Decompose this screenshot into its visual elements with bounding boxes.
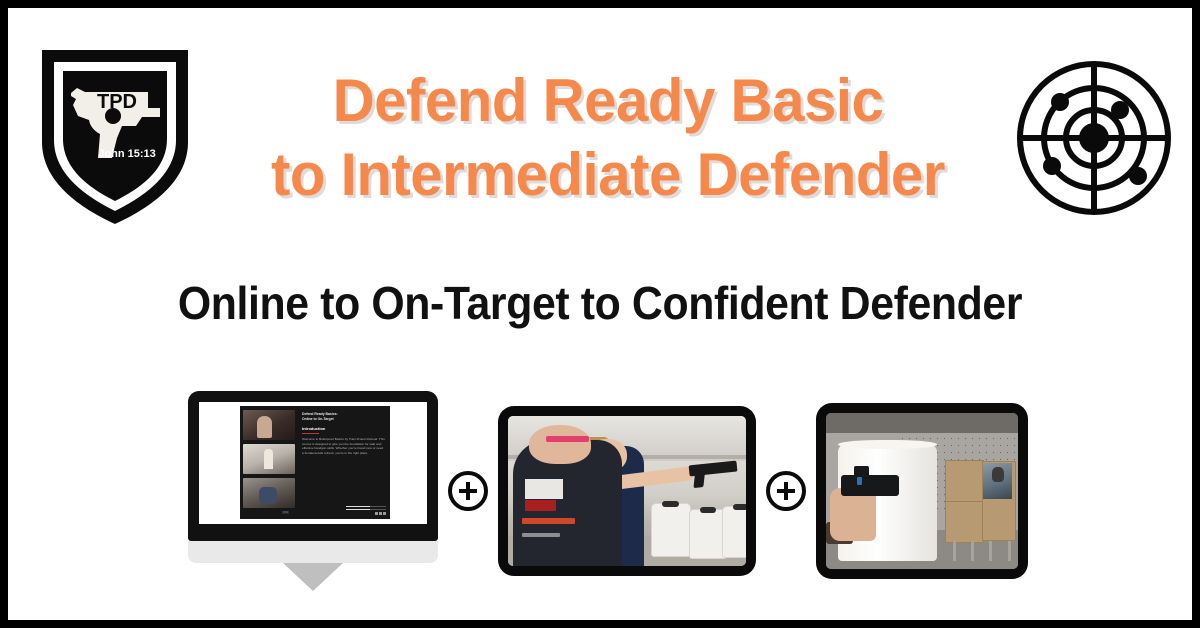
instructor-head (529, 425, 591, 464)
red-dot-optic (857, 477, 862, 485)
tpd-shield-logo: TPD John 15:13 (30, 30, 200, 230)
instructor-shirt-accent (525, 500, 556, 511)
instructor-shirt-logo (525, 479, 563, 499)
pistol-icon (688, 460, 736, 475)
instructor-talking-head-thumbnail[interactable] (243, 410, 295, 440)
video-volume-bar[interactable] (346, 509, 386, 510)
video-button-row[interactable] (346, 512, 386, 515)
instructor-shirt-text (522, 518, 574, 524)
barrel-1 (651, 503, 691, 557)
video-thumbnail-list (240, 406, 298, 519)
course-player: Defend Ready Basics: Online to On-Target… (240, 406, 390, 519)
fullscreen-icon[interactable] (383, 512, 386, 515)
monitor-stand (283, 563, 343, 591)
step-online-course: Defend Ready Basics: Online to On-Target… (188, 391, 438, 591)
barrel-2 (689, 509, 727, 559)
range-coaching-photo (508, 416, 746, 566)
classroom-whiteboard-thumbnail[interactable] (243, 444, 295, 474)
threat-photo-target (983, 463, 1012, 499)
monitor-screen: Defend Ready Basics: Online to On-Target… (199, 402, 427, 524)
monitor-chin (188, 541, 438, 563)
play-icon[interactable] (375, 512, 378, 515)
course-title-line-2: Online to On-Target (302, 417, 385, 422)
barrel-drill-photo (826, 413, 1018, 569)
page-title-line-2: to Intermediate Defender (220, 138, 996, 212)
course-content: Defend Ready Basics: Online to On-Target… (298, 406, 390, 519)
plus-icon-1 (448, 471, 488, 511)
safety-glasses-icon (546, 436, 589, 442)
shooter-hand (830, 488, 876, 541)
target-stand-legs (949, 541, 1014, 561)
bullseye-target-icon (1008, 48, 1180, 228)
plus-icon-2 (766, 471, 806, 511)
instructor-shirt-url (522, 533, 560, 537)
pistol-with-optic-icon (841, 475, 899, 495)
logo-initials: TPD (97, 91, 137, 113)
step-defensive-drill (816, 403, 1028, 579)
heading-rule (302, 433, 319, 434)
barrel-3 (722, 506, 746, 558)
range-coaching-thumbnail[interactable] (243, 478, 295, 508)
page-title: Defend Ready Basic to Intermediate Defen… (220, 64, 996, 213)
monitor-bezel: Defend Ready Basics: Online to On-Target… (188, 391, 438, 541)
video-timestamp: 0:04 (282, 511, 289, 514)
logo-verse: John 15:13 (98, 148, 155, 160)
step-live-range (498, 406, 756, 576)
page-subtitle: Online to On-Target to Confident Defende… (135, 276, 1065, 330)
video-controls[interactable] (346, 506, 386, 515)
lesson-heading: Introduction (302, 426, 385, 431)
cardboard-target-left (945, 460, 983, 543)
page-title-line-1: Defend Ready Basic (220, 64, 996, 138)
lesson-body: Welcome to Bulletproof Basics by Train P… (302, 437, 385, 456)
settings-icon[interactable] (379, 512, 382, 515)
journey-strip: Defend Ready Basics: Online to On-Target… (188, 386, 1028, 596)
range-ceiling (826, 413, 1018, 433)
poster-canvas: TPD John 15:13 Defend Ready Basic to Int… (8, 8, 1192, 620)
video-progress-bar[interactable] (346, 506, 386, 507)
